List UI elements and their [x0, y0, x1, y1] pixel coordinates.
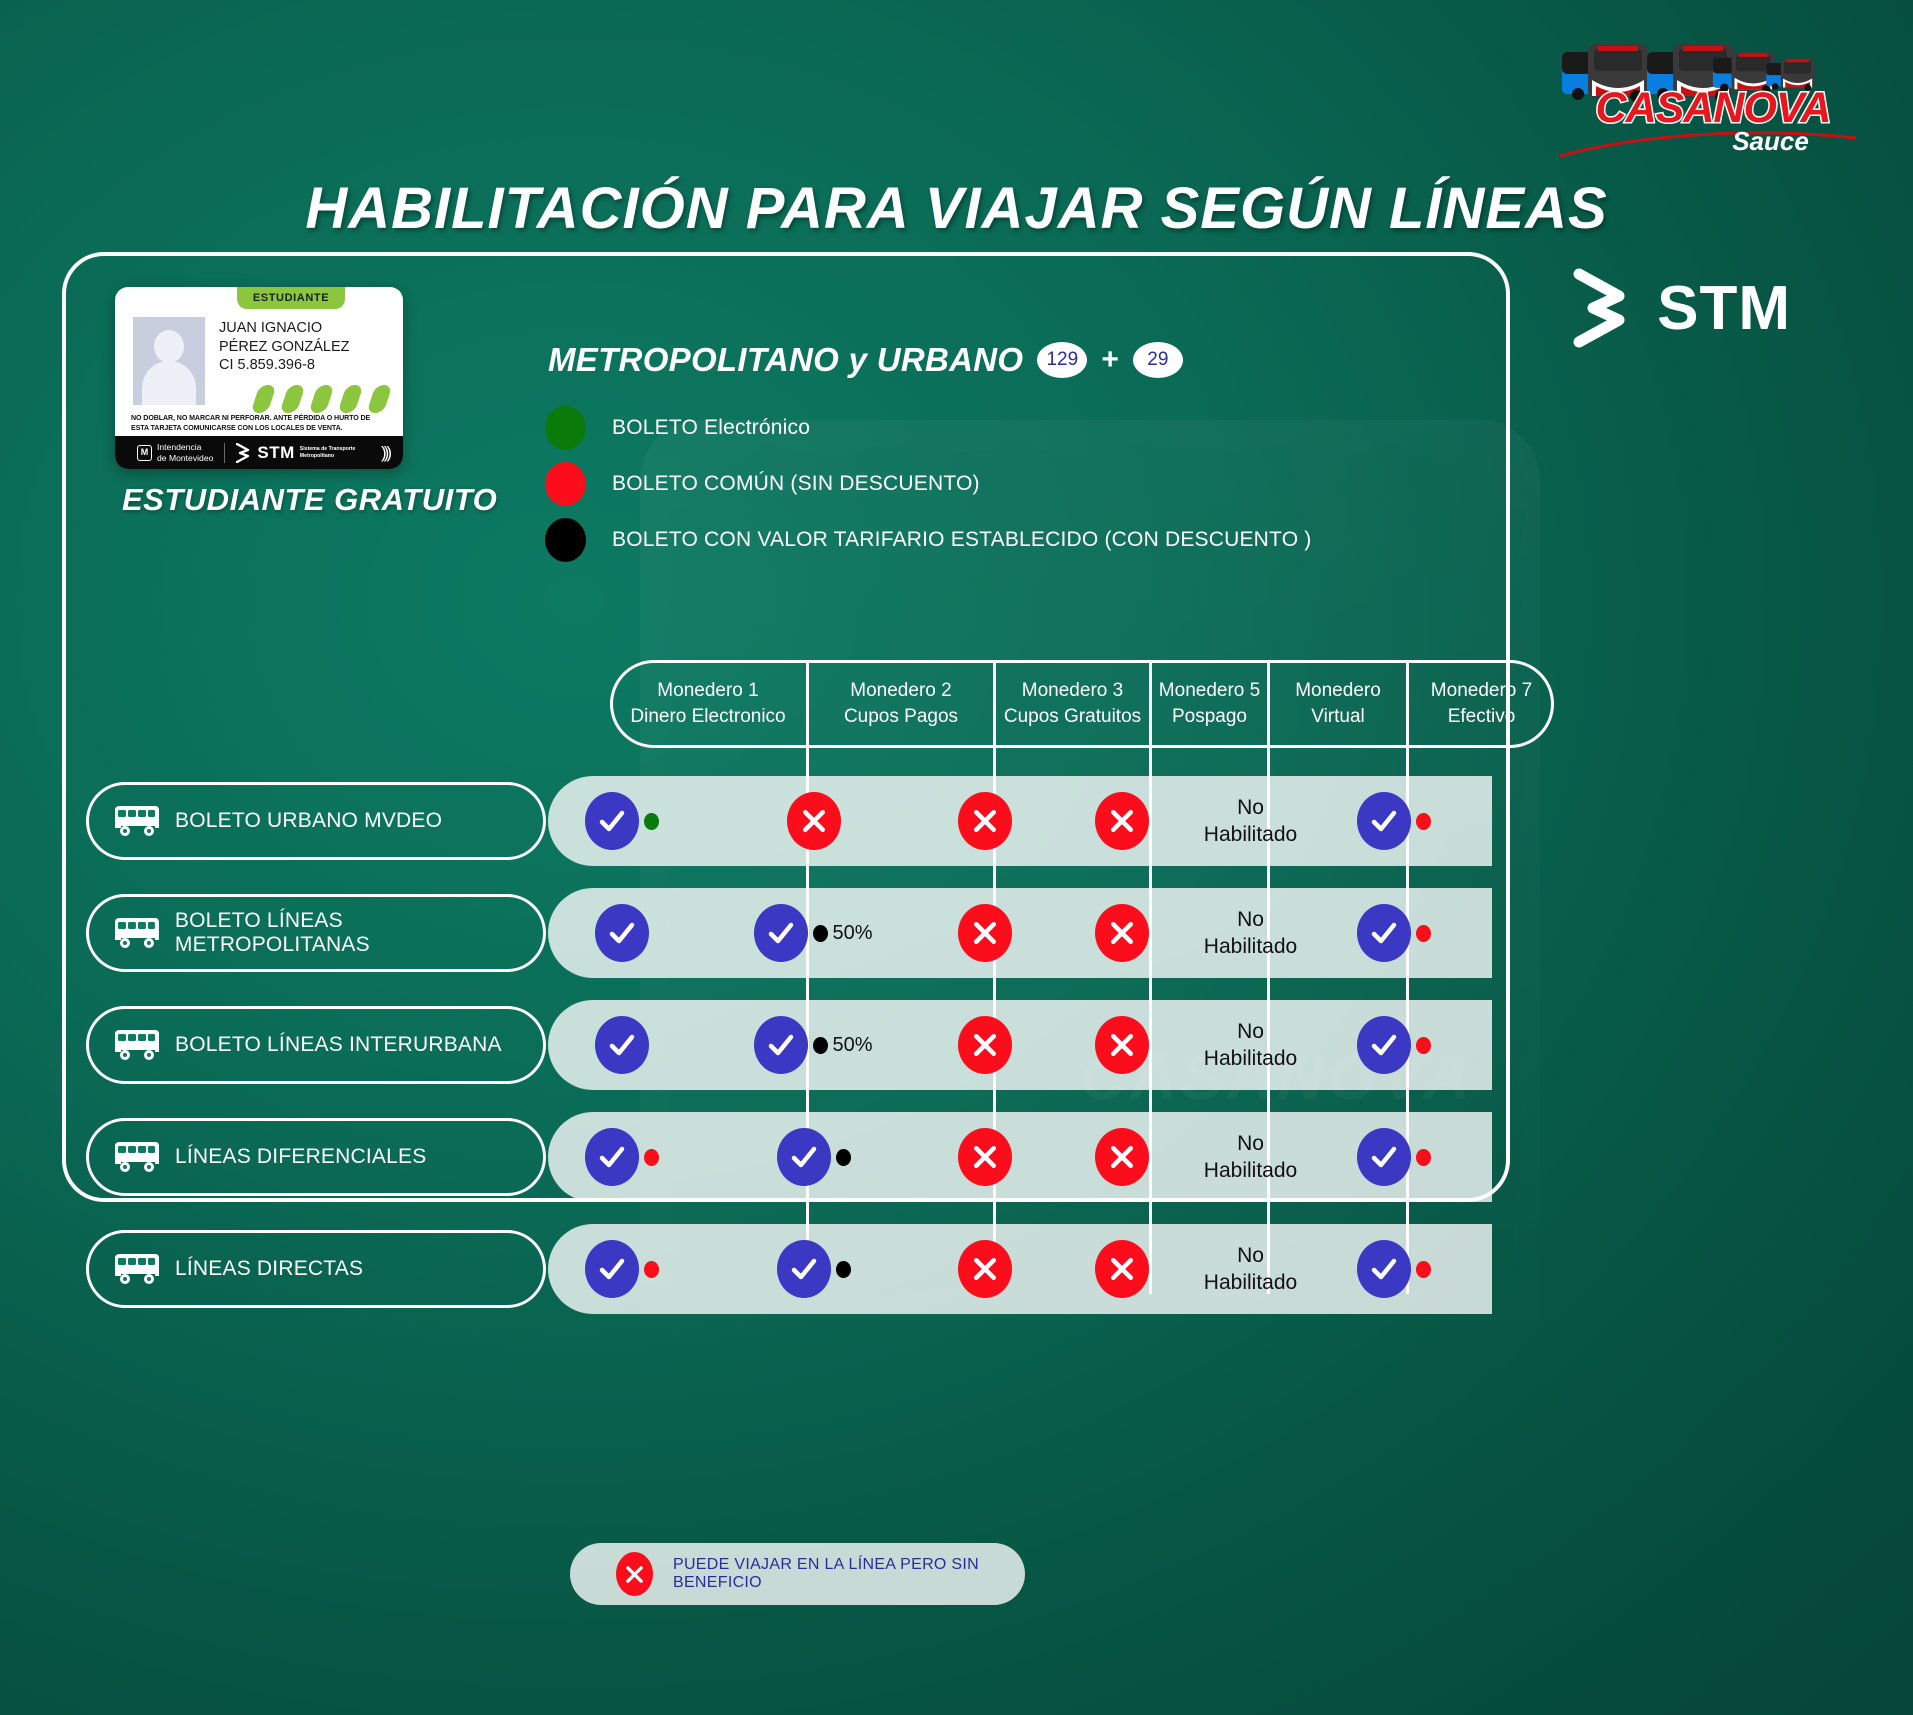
red-dot-icon: [545, 462, 586, 506]
im-line1: Intendencia: [157, 442, 201, 452]
legend-item: BOLETO COMÚN (SIN DESCUENTO): [545, 456, 1311, 512]
column-header-line2: Cupos Gratuitos: [1004, 704, 1141, 730]
bus-icon: [111, 1028, 163, 1062]
table-cell: NoHabilitado: [1181, 888, 1320, 978]
cell-mark: [595, 1016, 649, 1074]
table-cell: [720, 1112, 907, 1202]
column-header-line2: Virtual: [1295, 704, 1381, 730]
table-column-header: Monedero 5Pospago: [1149, 660, 1267, 748]
cell-mark: [1095, 904, 1149, 962]
table-cell: [1063, 1112, 1181, 1202]
table-cell: [1320, 888, 1468, 978]
table-cell: [524, 1112, 720, 1202]
card-caption: ESTUDIANTE GRATUITO: [122, 482, 497, 518]
red-x-icon: [616, 1552, 653, 1596]
table-cell: [524, 888, 720, 978]
card-badge: ESTUDIANTE: [237, 287, 345, 309]
row-label-text: BOLETO LÍNEAS METROPOLITANAS: [175, 909, 543, 957]
table-cell: NoHabilitado: [1181, 776, 1320, 866]
im-mark-icon: [137, 445, 152, 461]
im-line2: de Montevideo: [157, 453, 213, 463]
cell-mark: [1357, 904, 1431, 962]
row-label[interactable]: BOLETO URBANO MVDEO: [86, 782, 546, 860]
check-icon: [1357, 1016, 1411, 1074]
cell-mark: [1357, 1240, 1431, 1298]
cell-mark: [958, 1240, 1012, 1298]
column-header-line1: Monedero 1: [630, 678, 785, 704]
row-cells: 50%NoHabilitado: [524, 888, 1468, 978]
cross-icon: [958, 792, 1012, 850]
column-header-line2: Cupos Pagos: [844, 704, 958, 730]
cross-icon: [958, 1128, 1012, 1186]
cell-mark: [1095, 792, 1149, 850]
table-column-header: Monedero 3Cupos Gratuitos: [993, 660, 1149, 748]
cell-mark: [1357, 792, 1431, 850]
check-icon: [595, 1016, 649, 1074]
table-cell: [1320, 1112, 1468, 1202]
card-name-line2: PÉREZ GONZÁLEZ: [219, 338, 394, 357]
black-dot-icon: [813, 1037, 828, 1054]
card-footer-bar: Intendencia de Montevideo STM Sistema de…: [115, 436, 403, 469]
legend-label: BOLETO Electrónico: [612, 416, 810, 440]
row-cells: NoHabilitado: [524, 1112, 1468, 1202]
cell-mark: [958, 792, 1012, 850]
red-dot-icon: [1416, 813, 1431, 830]
check-icon: [1357, 1240, 1411, 1298]
cell-mark: [585, 792, 659, 850]
table-cell: NoHabilitado: [1181, 1000, 1320, 1090]
legend-label: BOLETO COMÚN (SIN DESCUENTO): [612, 472, 980, 496]
cross-icon: [1095, 1128, 1149, 1186]
table-cell: [524, 776, 720, 866]
legend-item: BOLETO Electrónico: [545, 400, 1311, 456]
cell-mark: [595, 904, 649, 962]
cell-status-text: NoHabilitado: [1204, 1242, 1297, 1297]
table-cell: [907, 888, 1063, 978]
card-stm-sub1: Sistema de Transporte: [300, 446, 356, 452]
table-cell: [1063, 1000, 1181, 1090]
stm-chevron-icon: [1573, 268, 1635, 348]
black-dot-icon: [545, 518, 586, 562]
cross-icon: [958, 1240, 1012, 1298]
card-fine-print: NO DOBLAR, NO MARCAR NI PERFORAR. ANTE P…: [131, 414, 389, 433]
column-header-line1: Monedero 7: [1431, 678, 1532, 704]
table-row: BOLETO LÍNEAS METROPOLITANAS50%NoHabilit…: [62, 880, 1510, 986]
table-cell: [524, 1000, 720, 1090]
table-header-row: Monedero 1Dinero ElectronicoMonedero 2Cu…: [610, 660, 1554, 748]
check-icon: [1357, 1128, 1411, 1186]
row-cells: NoHabilitado: [524, 776, 1468, 866]
cell-status-text: NoHabilitado: [1204, 1130, 1297, 1185]
cell-mark: [958, 1128, 1012, 1186]
table-column-header: Monedero 2Cupos Pagos: [806, 660, 993, 748]
table-column-header: Monedero 1Dinero Electronico: [610, 660, 806, 748]
check-icon: [754, 1016, 808, 1074]
table-row: LÍNEAS DIRECTASNoHabilitado: [62, 1216, 1510, 1322]
plus-symbol: +: [1101, 343, 1119, 377]
cell-mark: [787, 792, 841, 850]
check-icon: [595, 904, 649, 962]
cell-mark: [1357, 1016, 1431, 1074]
row-label-text: BOLETO URBANO MVDEO: [175, 809, 442, 833]
footer-divider: [224, 443, 225, 463]
red-dot-icon: [1416, 925, 1431, 942]
table-cell: [1063, 888, 1181, 978]
table-cell: [1320, 1000, 1468, 1090]
green-dot-icon: [644, 813, 659, 830]
red-dot-icon: [644, 1149, 659, 1166]
black-dot-icon: [836, 1149, 851, 1166]
card-stm-word: STM: [257, 443, 294, 463]
table-cell: [1063, 1224, 1181, 1314]
student-card: ESTUDIANTE JUAN IGNACIO PÉREZ GONZÁLEZ C…: [115, 287, 403, 469]
bus-icon: [111, 804, 163, 838]
cell-mark: [1095, 1128, 1149, 1186]
table-cell: NoHabilitado: [1181, 1224, 1320, 1314]
cell-mark: [958, 904, 1012, 962]
check-icon: [754, 904, 808, 962]
footer-note-text: PUEDE VIAJAR EN LA LÍNEA PERO SIN BENEFI…: [673, 1556, 1025, 1592]
cell-status-text: NoHabilitado: [1204, 794, 1297, 849]
cell-status-text: NoHabilitado: [1204, 906, 1297, 961]
line-count-pill-1: 129: [1037, 342, 1087, 378]
cross-icon: [1095, 1016, 1149, 1074]
red-dot-icon: [1416, 1261, 1431, 1278]
black-dot-icon: [813, 925, 828, 942]
logo-subname: Sauce: [1678, 126, 1863, 157]
intendencia-montevideo-logo: Intendencia de Montevideo: [137, 442, 213, 463]
row-label-text: LÍNEAS DIFERENCIALES: [175, 1145, 426, 1169]
person-photo-icon: [133, 317, 205, 405]
green-dot-icon: [545, 406, 586, 450]
check-icon: [585, 1128, 639, 1186]
cell-mark: 50%: [754, 904, 872, 962]
stm-wordmark: STM: [1657, 273, 1791, 344]
card-stm-logo: STM Sistema de Transporte Metropolitano: [236, 443, 355, 463]
table-cell: [1320, 1224, 1468, 1314]
cell-discount-text: 50%: [832, 922, 872, 945]
table-row: BOLETO URBANO MVDEONoHabilitado: [62, 768, 1510, 874]
stm-chevron-icon: [236, 443, 253, 463]
check-icon: [1357, 904, 1411, 962]
check-icon: [585, 792, 639, 850]
page-title: HABILITACIÓN PARA VIAJAR SEGÚN LÍNEAS: [0, 175, 1913, 242]
cell-mark: 50%: [754, 1016, 872, 1074]
card-name-line1: JUAN IGNACIO: [219, 319, 394, 338]
cell-discount-text: 50%: [832, 1034, 872, 1057]
line-count-pill-2: 29: [1133, 342, 1183, 378]
cross-icon: [1095, 792, 1149, 850]
cell-mark: [585, 1128, 659, 1186]
row-label-text: BOLETO LÍNEAS INTERURBANA: [175, 1033, 502, 1057]
table-cell: [524, 1224, 720, 1314]
cross-icon: [958, 904, 1012, 962]
check-icon: [777, 1128, 831, 1186]
row-label[interactable]: BOLETO LÍNEAS METROPOLITANAS: [86, 894, 546, 972]
card-id-line: CI 5.859.396-8: [219, 356, 394, 375]
cell-mark: [1357, 1128, 1431, 1186]
table-cell: [907, 1000, 1063, 1090]
row-cells: NoHabilitado: [524, 1224, 1468, 1314]
cross-icon: [958, 1016, 1012, 1074]
table-cell: [1320, 776, 1468, 866]
cell-mark: [1095, 1240, 1149, 1298]
cell-mark: [1095, 1016, 1149, 1074]
footer-note: PUEDE VIAJAR EN LA LÍNEA PERO SIN BENEFI…: [570, 1543, 1025, 1605]
column-header-line1: Monedero 3: [1004, 678, 1141, 704]
casanova-logo: CASANOVA Sauce: [1558, 22, 1858, 152]
column-header-line1: Monedero 2: [844, 678, 958, 704]
cell-mark: [585, 1240, 659, 1298]
card-holder-info: JUAN IGNACIO PÉREZ GONZÁLEZ CI 5.859.396…: [219, 319, 394, 375]
table-cell: [720, 776, 907, 866]
table-body: BOLETO URBANO MVDEONoHabilitadoBOLETO LÍ…: [62, 768, 1510, 1328]
legend-label: BOLETO CON VALOR TARIFARIO ESTABLECIDO (…: [612, 528, 1311, 552]
table-cell: [907, 1224, 1063, 1314]
row-label[interactable]: LÍNEAS DIRECTAS: [86, 1230, 546, 1308]
column-header-line2: Dinero Electronico: [630, 704, 785, 730]
check-icon: [585, 1240, 639, 1298]
cell-status-text: NoHabilitado: [1204, 1018, 1297, 1073]
column-header-line2: Efectivo: [1431, 704, 1532, 730]
bus-icon: [111, 1140, 163, 1174]
cell-mark: [958, 1016, 1012, 1074]
bus-icon: [111, 916, 163, 950]
table-column-header: Monedero 7Efectivo: [1406, 660, 1554, 748]
table-cell: [907, 1112, 1063, 1202]
table-cell: 50%: [720, 888, 907, 978]
table-cell: NoHabilitado: [1181, 1112, 1320, 1202]
card-stm-sub2: Metropolitano: [300, 453, 334, 459]
table-cell: [907, 776, 1063, 866]
black-dot-icon: [836, 1261, 851, 1278]
red-dot-icon: [644, 1261, 659, 1278]
scope-label: METROPOLITANO y URBANO: [548, 341, 1023, 379]
cross-icon: [1095, 1240, 1149, 1298]
table-column-header: MonederoVirtual: [1267, 660, 1406, 748]
cell-mark: [777, 1128, 851, 1186]
row-cells: 50%NoHabilitado: [524, 1000, 1468, 1090]
red-dot-icon: [1416, 1149, 1431, 1166]
scope-header: METROPOLITANO y URBANO 129 + 29: [548, 341, 1183, 379]
red-dot-icon: [1416, 1037, 1431, 1054]
check-icon: [777, 1240, 831, 1298]
table-cell: [720, 1224, 907, 1314]
row-label[interactable]: BOLETO LÍNEAS INTERURBANA: [86, 1006, 546, 1084]
legend-item: BOLETO CON VALOR TARIFARIO ESTABLECIDO (…: [545, 512, 1311, 568]
table-row: LÍNEAS DIFERENCIALESNoHabilitado: [62, 1104, 1510, 1210]
legend: BOLETO Electrónico BOLETO COMÚN (SIN DES…: [545, 400, 1311, 568]
column-header-line2: Pospago: [1159, 704, 1260, 730]
card-stripes-decoration: [255, 385, 395, 413]
cell-mark: [777, 1240, 851, 1298]
cross-icon: [1095, 904, 1149, 962]
column-header-line1: Monedero: [1295, 678, 1381, 704]
table-cell: [1063, 776, 1181, 866]
check-icon: [1357, 792, 1411, 850]
row-label[interactable]: LÍNEAS DIFERENCIALES: [86, 1118, 546, 1196]
contactless-icon: ))): [381, 443, 389, 463]
column-header-line1: Monedero 5: [1159, 678, 1260, 704]
table-cell: 50%: [720, 1000, 907, 1090]
stm-logo: STM: [1573, 268, 1791, 348]
table-row: BOLETO LÍNEAS INTERURBANA50%NoHabilitado: [62, 992, 1510, 1098]
row-label-text: LÍNEAS DIRECTAS: [175, 1257, 363, 1281]
bus-icon: [111, 1252, 163, 1286]
cross-icon: [787, 792, 841, 850]
